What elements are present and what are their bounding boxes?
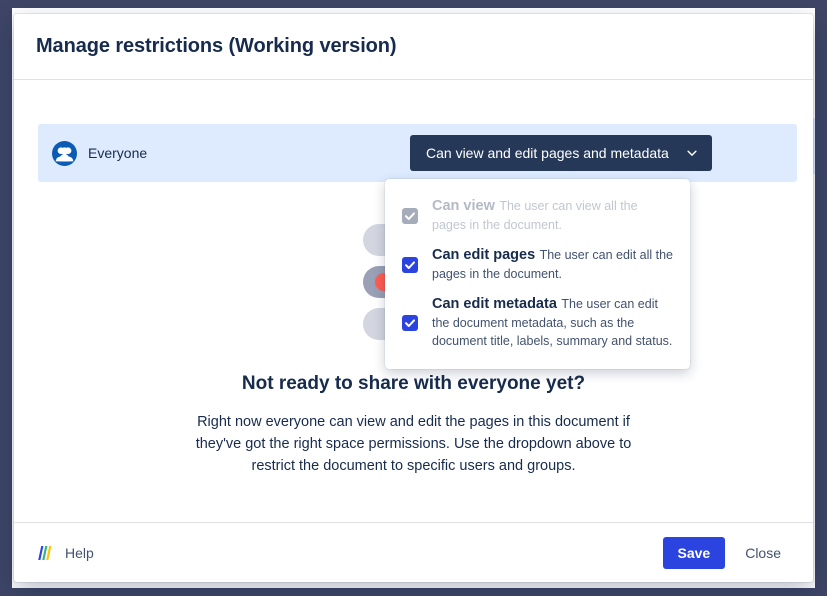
dropdown-option-can-edit-pages[interactable]: Can edit pages The user can edit all the… (385, 240, 690, 289)
dropdown-option-can-edit-metadata[interactable]: Can edit metadata The user can edit the … (385, 289, 690, 356)
save-button[interactable]: Save (663, 537, 726, 569)
dropdown-option-label: Can edit pages (432, 247, 535, 263)
dropdown-option-texts: Can edit pages The user can edit all the… (432, 246, 674, 283)
close-button[interactable]: Close (735, 537, 791, 569)
empty-state-description: Right now everyone can view and edit the… (188, 411, 640, 477)
help-link[interactable]: Help (36, 545, 94, 561)
dropdown-option-texts: Can view The user can view all the pages… (432, 197, 674, 234)
dropdown-option-label: Can edit metadata (432, 296, 557, 312)
permission-dropdown-value: Can view and edit pages and metadata (426, 145, 669, 161)
page-title: Manage restrictions (Working version) (36, 35, 396, 58)
empty-state-title: Not ready to share with everyone yet? (14, 373, 813, 395)
dropdown-option-texts: Can edit metadata The user can edit the … (432, 295, 674, 350)
help-label: Help (65, 545, 94, 561)
dropdown-option-label: Can view (432, 198, 495, 214)
people-group-icon (52, 141, 77, 166)
dialog-body: Everyone Can view and edit pages and met… (14, 80, 813, 522)
checkbox-checked-icon[interactable] (402, 315, 418, 331)
checkbox-checked-disabled-icon[interactable] (402, 208, 418, 224)
manage-restrictions-dialog: Manage restrictions (Working version) Ev… (14, 14, 813, 582)
permission-dropdown-menu: Can view The user can view all the pages… (385, 179, 690, 369)
dropdown-option-can-view[interactable]: Can view The user can view all the pages… (385, 191, 690, 240)
empty-state: Not ready to share with everyone yet? Ri… (14, 373, 813, 477)
chevron-down-icon (686, 147, 698, 159)
dialog-header: Manage restrictions (Working version) (14, 14, 813, 80)
permission-subject: Everyone (52, 141, 147, 166)
permission-dropdown-trigger[interactable]: Can view and edit pages and metadata (410, 135, 712, 171)
atlassian-help-icon (36, 545, 55, 561)
checkbox-checked-icon[interactable] (402, 257, 418, 273)
permission-subject-label: Everyone (88, 145, 147, 161)
permission-row-everyone: Everyone Can view and edit pages and met… (38, 124, 797, 182)
dialog-footer: Help Save Close (14, 522, 813, 582)
